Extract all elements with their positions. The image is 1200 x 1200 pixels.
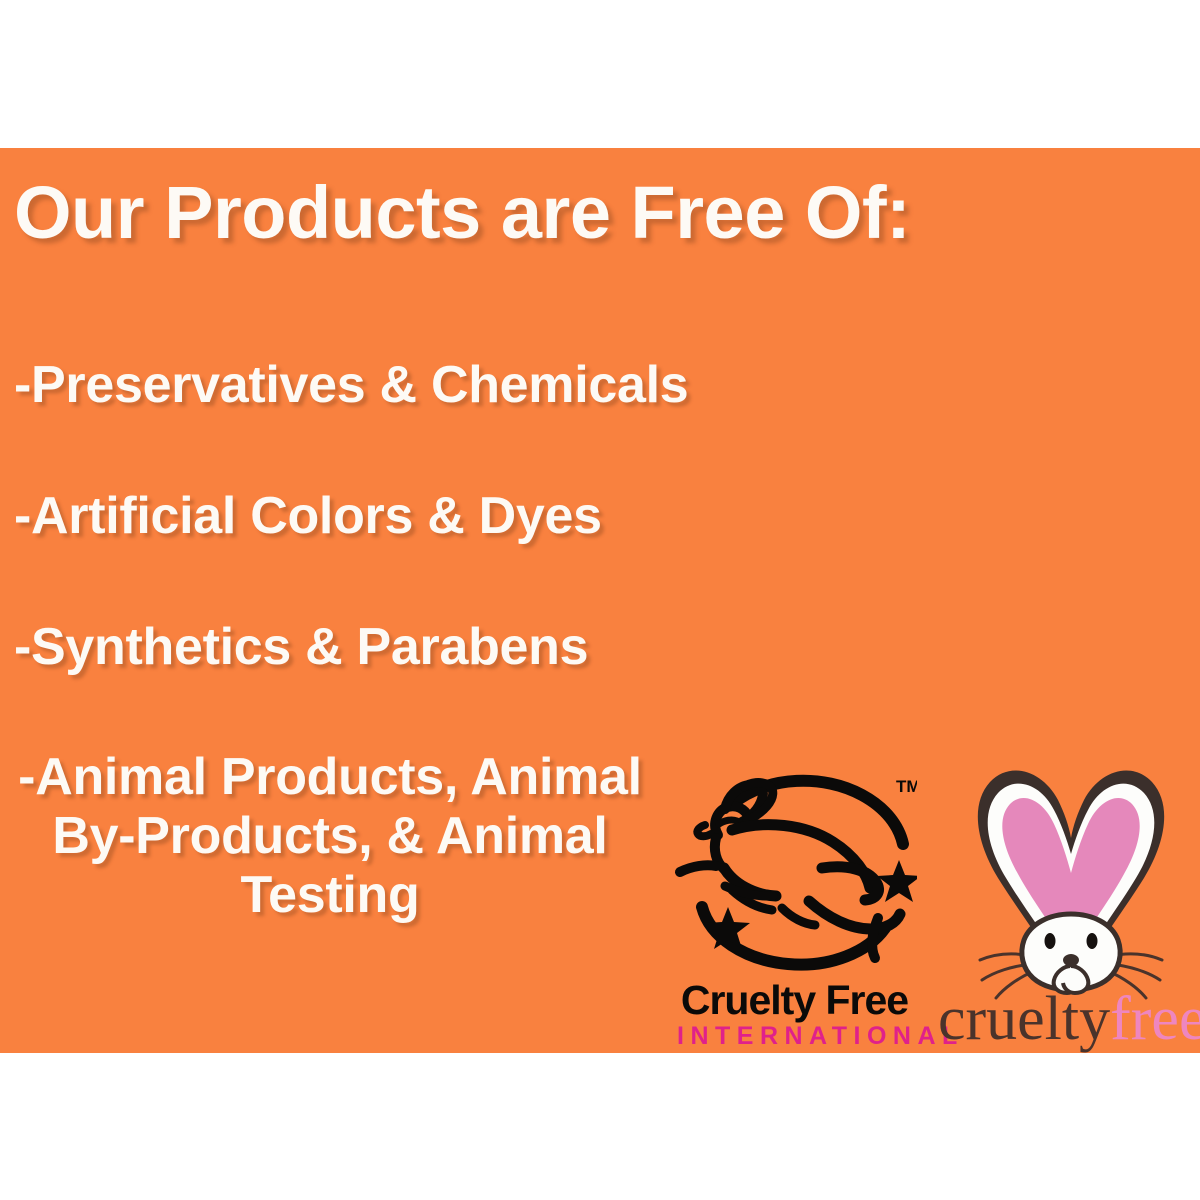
logo-word-free: free [1110, 985, 1200, 1053]
cruelty-free-international-wordmark: Cruelty Free INTERNATIONAL [672, 980, 917, 1052]
list-item: -Preservatives & Chemicals [0, 356, 700, 415]
free-of-list: -Preservatives & Chemicals -Artificial C… [0, 356, 700, 925]
page-title: Our Products are Free Of: [14, 176, 1014, 250]
heart-eared-bunny-icon [960, 760, 1182, 1005]
list-item: -Synthetics & Parabens [0, 618, 700, 677]
logo-name: Cruelty Free [672, 980, 917, 1021]
peta-cruelty-free-logo: crueltyfree [938, 760, 1200, 1053]
logo-word-cruelty: cruelty [938, 985, 1110, 1053]
list-item: -Artificial Colors & Dyes [0, 487, 700, 546]
eye-shape [1045, 933, 1056, 949]
eye-shape [1087, 933, 1098, 949]
orange-banner: Our Products are Free Of: -Preservatives… [0, 148, 1200, 1053]
cruelty-free-international-logo: TM Cruelty Free INTERNATIONAL [672, 768, 917, 1053]
slide-canvas: Our Products are Free Of: -Preservatives… [0, 0, 1200, 1200]
list-item: -Animal Products, Animal By-Products, & … [0, 748, 660, 924]
leaping-bunny-icon: TM [672, 768, 917, 983]
trademark-symbol: TM [896, 777, 917, 796]
logo-subtitle: INTERNATIONAL [677, 1021, 917, 1052]
peta-cruelty-free-wordmark: crueltyfree [938, 988, 1200, 1050]
